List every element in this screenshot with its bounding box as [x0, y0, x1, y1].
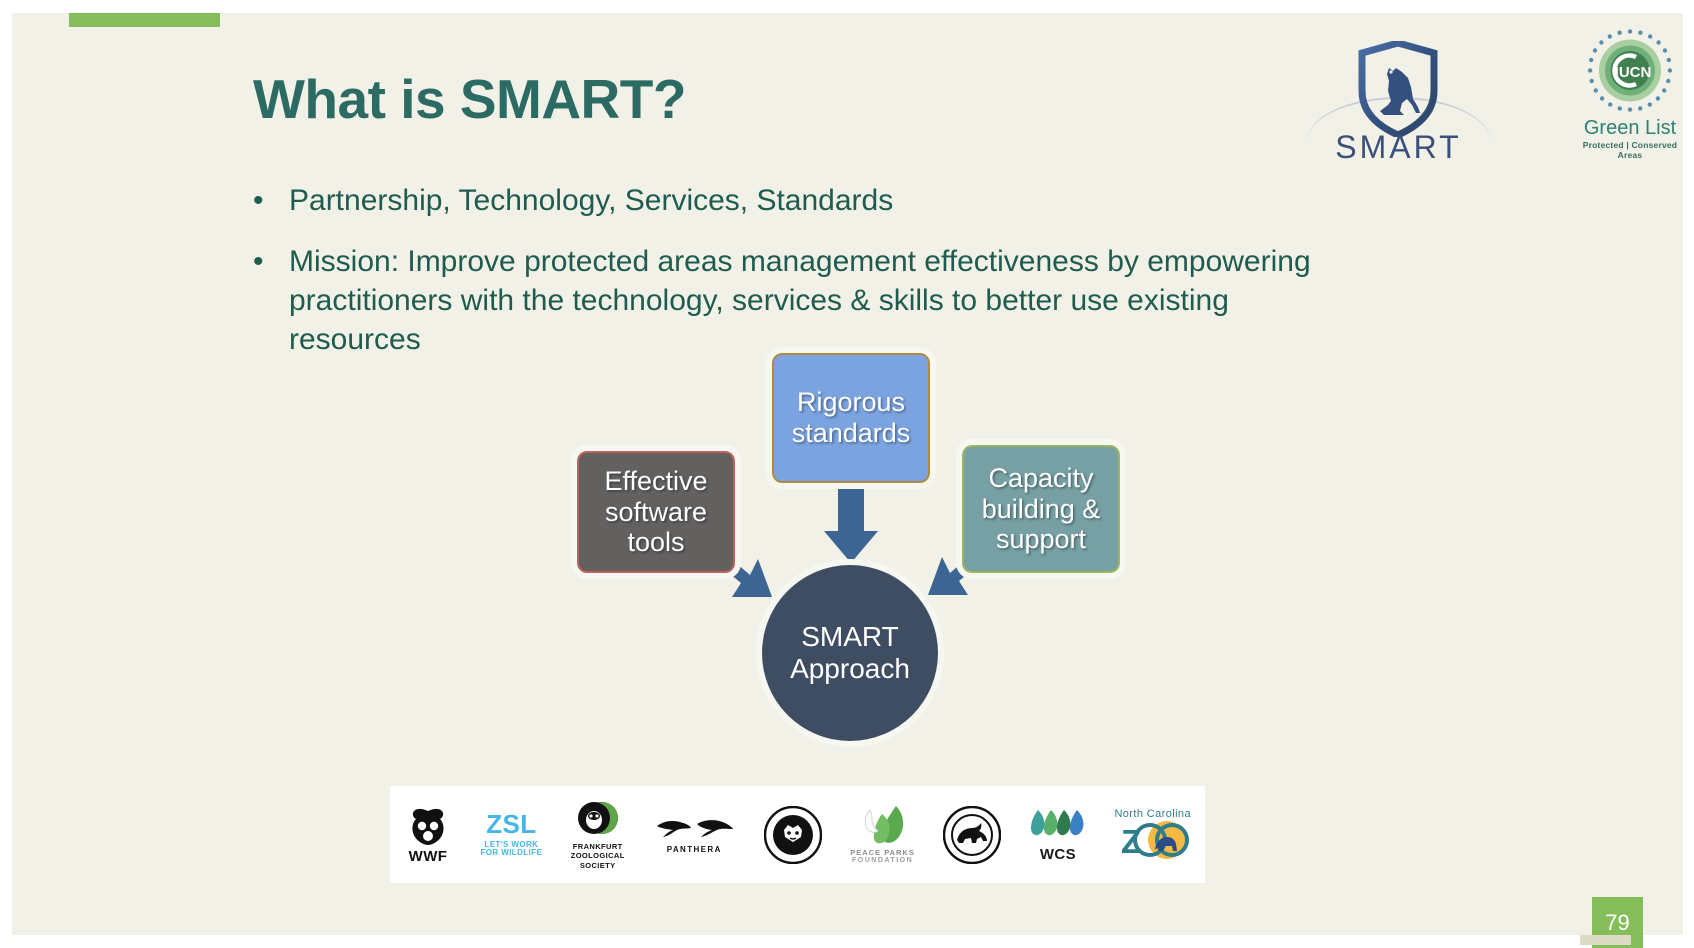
green-list-subtitle: Protected | Conserved Areas [1572, 140, 1688, 160]
partner-logo-zsl: ZSL LET'S WORK FOR WILDLIFE [481, 795, 543, 875]
peace-parks-leaf-dove-icon [856, 804, 910, 848]
top-accent-bar [69, 13, 220, 27]
partner-logo-wcs: WCS [1030, 795, 1086, 875]
bullet-text: Partnership, Technology, Services, Stand… [289, 181, 1333, 220]
smart-wordmark: SMART [1306, 129, 1491, 166]
green-list-ring-icon: IUCN [1586, 27, 1674, 115]
partner-logos-strip: WWF ZSL LET'S WORK FOR WILDLIFE FRANKFUR… [390, 786, 1205, 883]
smart-approach-diagram: Rigorous standards Effective software to… [572, 343, 1142, 738]
svg-text:IUCN: IUCN [1615, 64, 1652, 81]
green-list-title: Green List [1572, 117, 1688, 140]
partner-logo-sublabel: LET'S WORK FOR WILDLIFE [481, 841, 543, 858]
bullet-item: • Partnership, Technology, Services, Sta… [253, 181, 1333, 220]
wildlife-protection-solutions-seal-icon [943, 806, 1001, 864]
panthera-cat-icon [653, 814, 735, 848]
smart-logo: SMART [1306, 35, 1491, 170]
wwf-panda-icon [404, 805, 452, 851]
diagram-box-effective-software-tools[interactable]: Effective software tools [577, 451, 735, 573]
diagram-box-label: Effective software tools [604, 466, 707, 558]
gorilla-icon [574, 799, 622, 841]
partner-logo-global-wildlife-conservation [764, 795, 822, 875]
slide-canvas: What is SMART? • Partnership, Technology… [12, 13, 1683, 935]
partner-logo-label: WWF [409, 849, 448, 865]
bullet-text: Mission: Improve protected areas managem… [289, 242, 1333, 359]
diagram-box-label: Rigorous standards [792, 387, 911, 449]
partner-logo-sublabel: FOUNDATION [852, 857, 913, 864]
partner-logo-north-carolina-zoo: North Carolina Z [1114, 795, 1191, 875]
slide-root: What is SMART? • Partnership, Technology… [0, 0, 1694, 948]
partner-logo-peace-parks-foundation: PEACE PARKS FOUNDATION [850, 795, 915, 875]
partner-logo-label: WCS [1040, 847, 1076, 863]
diagram-box-capacity-building-support[interactable]: Capacity building & support [962, 445, 1120, 573]
diagram-center-label: SMART Approach [790, 621, 910, 686]
diagram-center-smart-approach[interactable]: SMART Approach [762, 565, 938, 741]
partner-logo-wwf: WWF [404, 795, 452, 875]
partner-logo-label: North Carolina [1114, 809, 1191, 821]
wcs-droplets-icon [1030, 806, 1086, 846]
bullet-marker-icon: • [253, 181, 289, 220]
partner-logo-panthera: PANTHERA [653, 795, 735, 875]
bullet-item: • Mission: Improve protected areas manag… [253, 242, 1333, 359]
iucn-green-list-logo: IUCN Green List Protected | Conserved Ar… [1572, 27, 1688, 161]
partner-logo-label: PANTHERA [667, 846, 722, 854]
page-title: What is SMART? [253, 71, 686, 129]
page-number-shadow [1580, 935, 1631, 945]
partner-logo-label: FRANKFURT ZOOLOGICAL SOCIETY [571, 842, 625, 870]
partner-logo-wildlife-protection-solutions [943, 795, 1001, 875]
partner-logo-frankfurt-zoological-society: FRANKFURT ZOOLOGICAL SOCIETY [571, 795, 625, 875]
partner-logo-label: ZSL [486, 811, 536, 838]
bullet-marker-icon: • [253, 242, 289, 281]
diagram-box-label: Capacity building & support [982, 463, 1101, 555]
partner-logo-label: PEACE PARKS [850, 849, 915, 857]
global-wildlife-conservation-seal-icon [764, 806, 822, 864]
smart-shield-icon [1358, 41, 1438, 137]
diagram-box-rigorous-standards[interactable]: Rigorous standards [772, 353, 930, 483]
nc-zoo-elephant-icon: Z [1115, 820, 1191, 860]
